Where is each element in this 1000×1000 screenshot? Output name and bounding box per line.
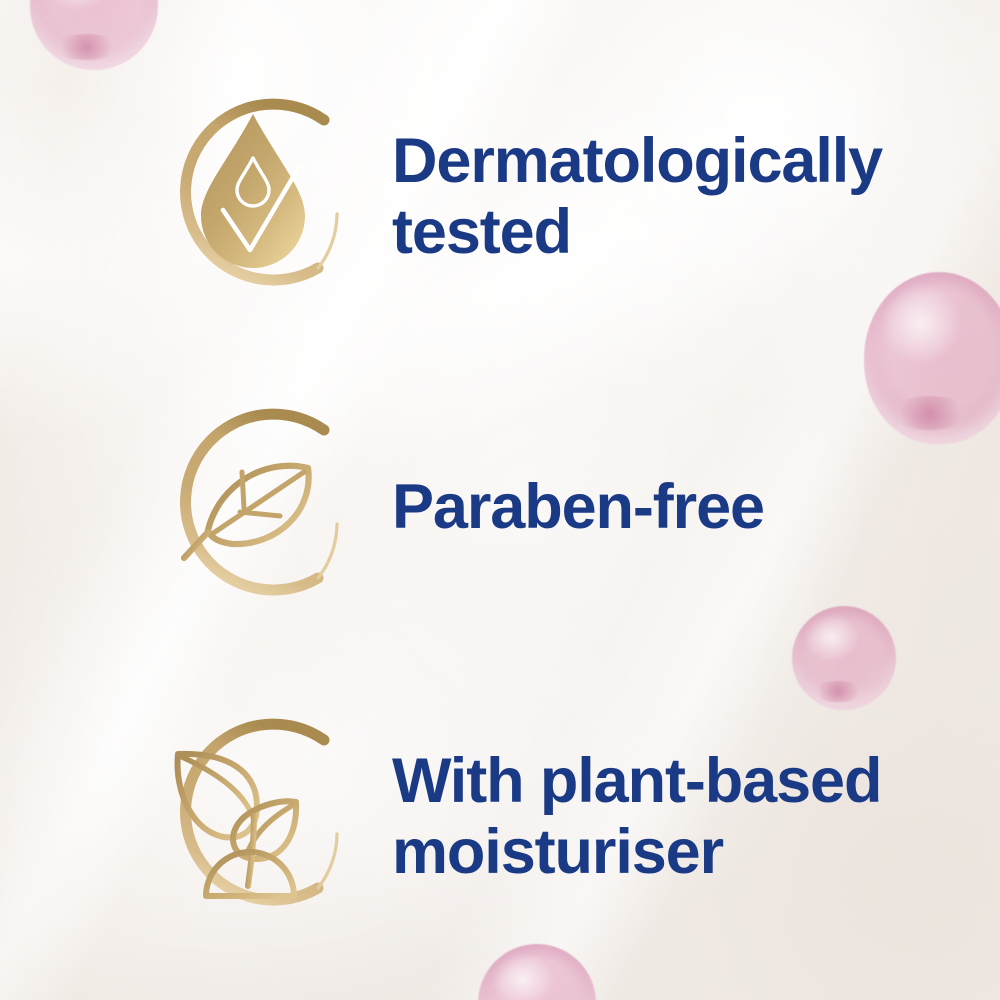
sprout-icon (128, 692, 378, 942)
feature-item-dermatologically-tested: Dermatologically tested (128, 72, 928, 322)
leaf-icon (128, 382, 378, 632)
feature-label: Dermatologically tested (392, 126, 882, 267)
feature-item-paraben-free: Paraben-free (128, 382, 928, 632)
droplet-check-icon (128, 72, 378, 322)
feature-list: Dermatologically tested (0, 0, 1000, 1000)
feature-label: Paraben-free (392, 472, 764, 543)
promo-banner: Dermatologically tested (0, 0, 1000, 1000)
feature-item-plant-based-moisturiser: With plant-based moisturiser (128, 692, 928, 942)
feature-label: With plant-based moisturiser (392, 746, 881, 887)
